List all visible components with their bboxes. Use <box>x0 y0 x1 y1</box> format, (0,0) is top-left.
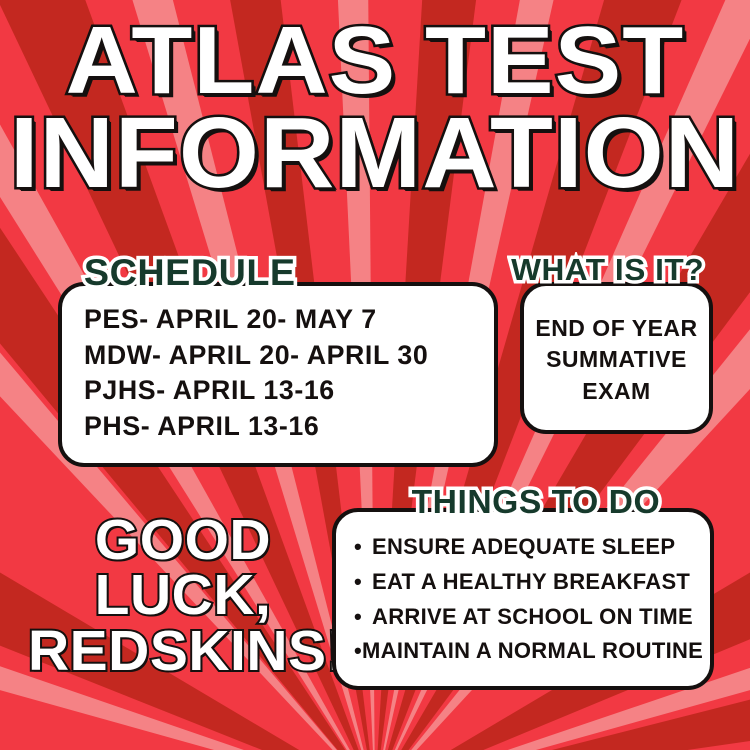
schedule-row: PES- APRIL 20- MAY 7 <box>84 302 480 338</box>
bullet-icon: • <box>354 571 372 593</box>
list-item: • MAINTAIN A NORMAL ROUTINE <box>354 634 702 669</box>
bullet-icon: • <box>354 606 372 628</box>
list-item: • ENSURE ADEQUATE SLEEP <box>354 530 702 565</box>
things-to-do-list: • ENSURE ADEQUATE SLEEP • EAT A HEALTHY … <box>354 530 702 669</box>
list-item: • ARRIVE AT SCHOOL ON TIME <box>354 600 702 635</box>
list-item-label: ENSURE ADEQUATE SLEEP <box>372 530 675 565</box>
list-item: • EAT A HEALTHY BREAKFAST <box>354 565 702 600</box>
list-item-label: MAINTAIN A NORMAL ROUTINE <box>362 634 703 669</box>
schedule-row: MDW- APRIL 20- APRIL 30 <box>84 338 480 374</box>
what-is-it-line: SUMMATIVE <box>546 344 687 375</box>
poster-canvas: ATLAS TEST INFORMATION PES- APRIL 20- MA… <box>0 0 750 750</box>
bullet-icon: • <box>354 536 372 558</box>
list-item-label: EAT A HEALTHY BREAKFAST <box>372 565 690 600</box>
what-is-it-line: END OF YEAR <box>535 313 697 344</box>
schedule-card: PES- APRIL 20- MAY 7 MDW- APRIL 20- APRI… <box>58 282 498 467</box>
schedule-row: PJHS- APRIL 13-16 <box>84 373 480 409</box>
schedule-heading: SCHEDULE <box>84 252 296 294</box>
schedule-row: PHS- APRIL 13-16 <box>84 409 480 445</box>
what-is-it-heading: WHAT IS IT? <box>511 252 704 288</box>
what-is-it-body: END OF YEAR SUMMATIVE EXAM <box>524 286 709 430</box>
list-item-label: ARRIVE AT SCHOOL ON TIME <box>372 600 693 635</box>
schedule-list: PES- APRIL 20- MAY 7 MDW- APRIL 20- APRI… <box>84 302 484 445</box>
what-is-it-card: END OF YEAR SUMMATIVE EXAM <box>520 282 713 434</box>
things-to-do-heading: THINGS TO DO <box>412 483 661 521</box>
what-is-it-line: EXAM <box>582 376 650 407</box>
things-to-do-card: • ENSURE ADEQUATE SLEEP • EAT A HEALTHY … <box>332 508 714 690</box>
bullet-icon: • <box>354 640 362 662</box>
